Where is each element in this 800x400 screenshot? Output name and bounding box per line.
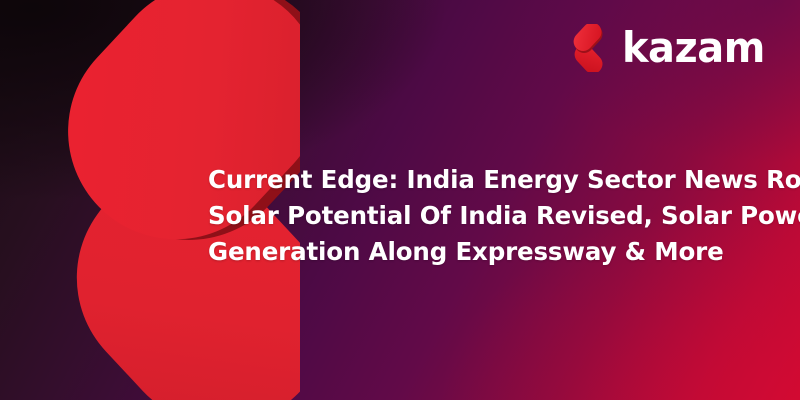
kazam-chevron-mark <box>564 24 610 72</box>
article-banner: kazam Current Edge: India Energy Sector … <box>0 0 800 400</box>
page-title: Current Edge: India Energy Sector News R… <box>208 162 768 270</box>
brand-logo[interactable]: kazam <box>564 24 772 72</box>
headline-line-2: Solar Potential Of India Revised, Solar … <box>208 198 768 234</box>
brand-wordmark: kazam <box>622 27 765 69</box>
headline-line-1: Current Edge: India Energy Sector News R… <box>208 162 768 198</box>
headline-line-3: Generation Along Expressway & More <box>208 234 768 270</box>
